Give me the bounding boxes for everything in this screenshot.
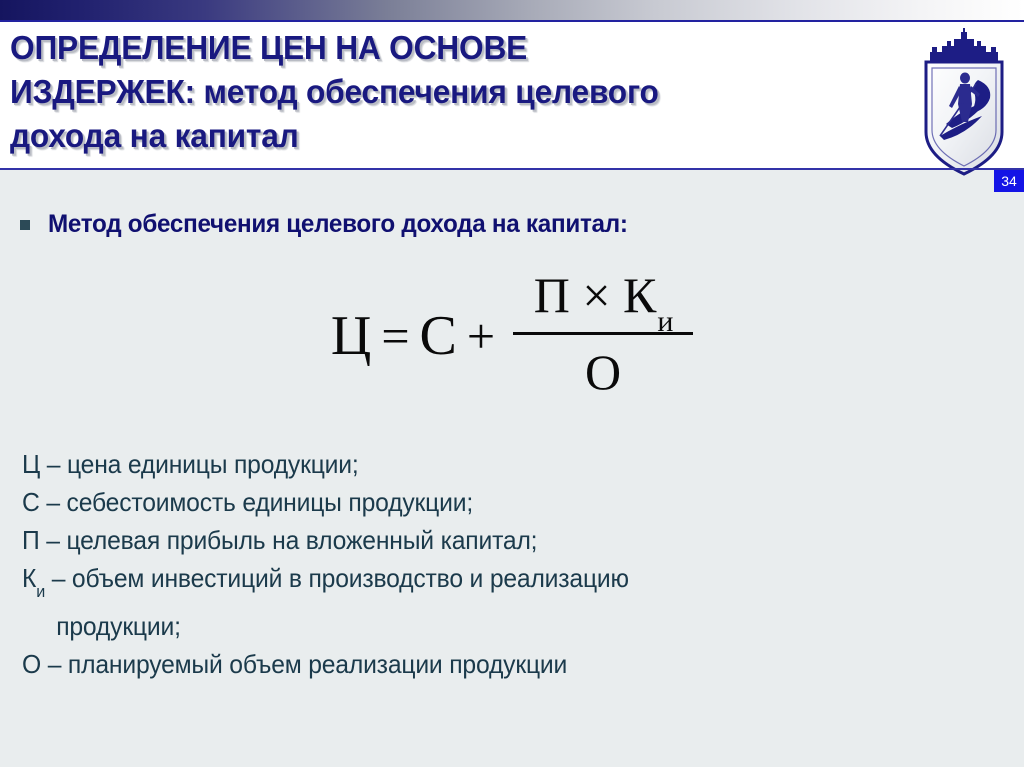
definition-text: продукции; xyxy=(56,611,181,641)
title-line-1: ОПРЕДЕЛЕНИЕ ЦЕН НА ОСНОВЕ xyxy=(10,26,864,70)
definition-line: П – целевая прибыль на вложенный капитал… xyxy=(22,521,953,559)
definition-line: С – себестоимость единицы продукции; xyxy=(22,483,953,521)
slide-header: ОПРЕДЕЛЕНИЕ ЦЕН НА ОСНОВЕ ИЗДЕРЖЕК: мето… xyxy=(0,22,1024,168)
formula-cost-symbol: С xyxy=(420,308,457,364)
definition-symbol: П xyxy=(22,525,40,555)
pricing-formula: Ц = С + П × Ки О xyxy=(0,268,1024,404)
definition-line: Ки – объем инвестиций в производство и р… xyxy=(22,559,953,607)
bullet-row: Метод обеспечения целевого дохода на кап… xyxy=(20,208,1000,240)
definition-symbol: С xyxy=(22,487,40,517)
university-coat-of-arms-emblem xyxy=(916,28,1012,180)
symbol-definitions-list: Ц – цена единицы продукции; С – себестои… xyxy=(22,445,1002,683)
definition-line-continuation: продукции; xyxy=(22,607,953,645)
square-bullet-icon xyxy=(20,220,30,230)
top-gradient-band xyxy=(0,0,1024,20)
header-divider xyxy=(0,168,1024,170)
definition-symbol: К xyxy=(22,563,36,593)
formula-fraction: П × Ки О xyxy=(513,268,693,404)
formula-numerator-main: П × К xyxy=(534,267,657,323)
formula-price-symbol: Ц xyxy=(331,308,371,364)
definition-line: Ц – цена единицы продукции; xyxy=(22,445,953,483)
slide-root: { "theme": { "background": "#e9edee", "t… xyxy=(0,0,1024,767)
definition-text: – объем инвестиций в производство и реал… xyxy=(52,563,629,593)
slide-number-badge: 34 xyxy=(994,170,1024,192)
page-title: ОПРЕДЕЛЕНИЕ ЦЕН НА ОСНОВЕ ИЗДЕРЖЕК: мето… xyxy=(10,26,900,158)
definition-text: – цена единицы продукции; xyxy=(47,449,359,479)
bullet-text: Метод обеспечения целевого дохода на кап… xyxy=(48,208,628,240)
formula-plus-sign: + xyxy=(457,311,505,361)
definition-text: – себестоимость единицы продукции; xyxy=(46,487,473,517)
definition-symbol: О xyxy=(22,649,41,679)
definition-symbol: Ц xyxy=(22,449,40,479)
title-line-3: дохода на капитал xyxy=(10,114,864,158)
formula-numerator-subscript: и xyxy=(657,305,673,338)
definition-line: О – планируемый объем реализации продукц… xyxy=(22,645,953,683)
formula-denominator: О xyxy=(585,335,621,404)
formula-numerator: П × Ки xyxy=(520,268,687,332)
title-line-2: ИЗДЕРЖЕК: метод обеспечения целевого xyxy=(10,70,864,114)
formula-equals-sign: = xyxy=(371,311,419,361)
definition-symbol-subscript: и xyxy=(36,582,45,601)
definition-text: – целевая прибыль на вложенный капитал; xyxy=(46,525,537,555)
definition-text: – планируемый объем реализации продукции xyxy=(48,649,567,679)
